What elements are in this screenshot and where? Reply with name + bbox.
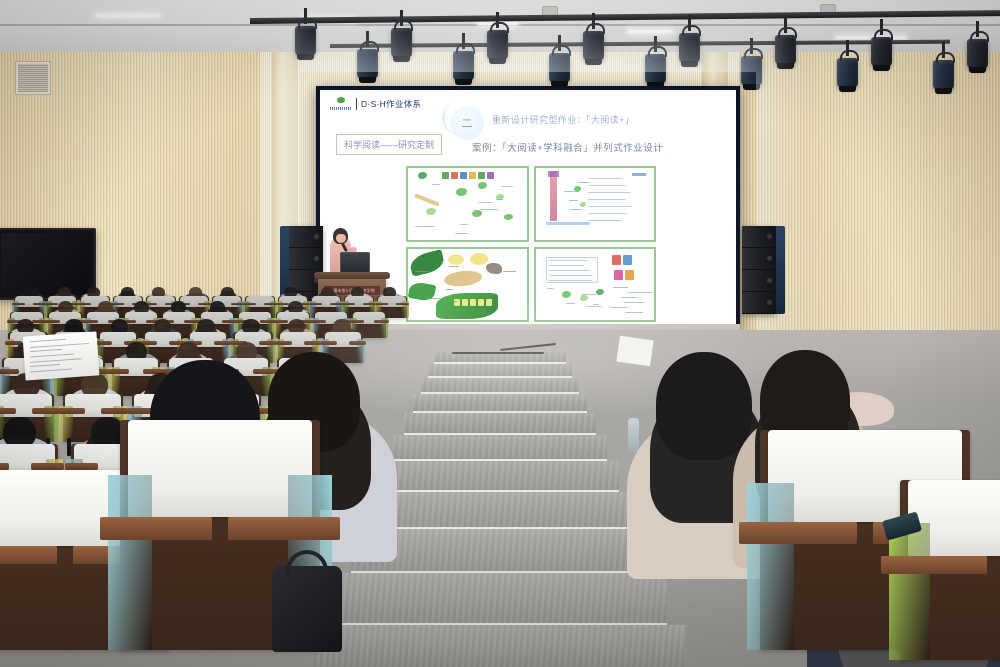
- seat-side-panel: [747, 483, 793, 650]
- student-poster: [534, 166, 657, 242]
- poster-doodle: [546, 222, 590, 225]
- poster-doodle: [632, 173, 646, 176]
- poster-handwriting: [581, 294, 596, 295]
- poster-text-line: [613, 287, 627, 288]
- poster-text-line: [610, 307, 629, 308]
- lectern-top: [314, 272, 390, 279]
- poster-text-line: [588, 178, 623, 179]
- poster-handwriting: [480, 209, 499, 210]
- laptop-screen: [340, 252, 370, 273]
- slide-logo: D·S·H作业体系: [330, 97, 421, 110]
- stair-step: [367, 492, 633, 529]
- poster-doodle: [580, 202, 586, 207]
- slide-section-badge: 二: [450, 106, 484, 140]
- auditorium-seat-foreground: [900, 480, 1000, 660]
- poster-handwriting: [446, 289, 453, 290]
- poster-handwriting: [503, 271, 516, 272]
- wall-monitor: [0, 228, 96, 300]
- poster-handwriting: [426, 298, 440, 299]
- stage-light: [487, 30, 508, 60]
- poster-doodle: [486, 263, 502, 274]
- poster-text-line: [624, 302, 644, 303]
- stage-light: [583, 31, 604, 61]
- poster-text-line: [625, 312, 643, 313]
- poster-handwriting: [432, 184, 440, 185]
- poster-doodle: [456, 188, 467, 196]
- stage-light: [645, 54, 666, 84]
- leaf-illustration: [408, 249, 446, 277]
- stage-light: [295, 26, 316, 56]
- stage-light: [549, 53, 570, 83]
- stage-light: [453, 51, 474, 81]
- monitor-screen: [1, 233, 91, 295]
- poster-doodle: [574, 186, 581, 192]
- seat-armrest: [12, 303, 25, 306]
- poster-text-line: [549, 270, 590, 271]
- poster-text-line: [549, 275, 594, 276]
- leaf-illustration: [436, 293, 498, 319]
- seat-armrest: [65, 463, 98, 470]
- poster-doodle: [548, 171, 559, 177]
- poster-grid: [406, 166, 656, 322]
- poster-doodle: [596, 289, 604, 295]
- seat-armrest: [45, 320, 60, 323]
- stage-light: [741, 56, 762, 86]
- seat-armrest: [349, 341, 367, 345]
- poster-handwriting: [578, 182, 590, 183]
- poster-handwriting: [593, 304, 599, 305]
- slide-tag-label: 科学阅读——研究定制: [336, 134, 442, 155]
- stair-step: [314, 625, 686, 667]
- seat-armrest: [58, 408, 84, 414]
- poster-handwriting: [566, 303, 574, 304]
- speaker-unit: [742, 292, 776, 314]
- poster-text-line: [588, 185, 627, 186]
- poster-doodle: [472, 210, 482, 217]
- seat-armrest: [0, 463, 9, 470]
- seat-armrest: [214, 341, 232, 345]
- seat-armrest: [273, 320, 288, 323]
- stage-light: [967, 39, 988, 69]
- poster-doodle: [580, 295, 588, 301]
- stair-step: [393, 435, 607, 461]
- slide-subtitle: 案例：「大阅读+学科融合」并列式作业设计: [472, 140, 663, 154]
- poster-text-line: [588, 199, 626, 200]
- poster-handwriting: [478, 202, 492, 203]
- logo-divider: [356, 98, 357, 110]
- seat-armrest: [374, 320, 389, 323]
- school-logo-icon: [330, 97, 352, 110]
- seat-armrest: [253, 369, 274, 374]
- speaker-unit: [742, 248, 776, 270]
- poster-doodle: [470, 253, 488, 265]
- floor-cable: [452, 352, 544, 354]
- poster-text-line: [588, 213, 628, 214]
- student-poster: [534, 247, 657, 323]
- poster-text-line: [549, 265, 584, 266]
- poster-doodle: [550, 171, 557, 221]
- water-bottle: [628, 418, 639, 452]
- seat-armrest: [739, 522, 857, 544]
- stage-light: [871, 37, 892, 67]
- poster-title-glyph: [478, 299, 484, 306]
- seat-headrest-cover: [128, 420, 312, 517]
- student-poster: [406, 247, 529, 323]
- speaker-unit: [289, 248, 323, 270]
- stage-light: [775, 35, 796, 65]
- stage-light: [679, 33, 700, 63]
- air-vent-grille: [16, 62, 50, 94]
- stair-step: [428, 364, 572, 378]
- poster-handwriting: [547, 288, 553, 289]
- stair-step: [404, 413, 596, 435]
- slide-logo-text: D·S·H作业体系: [361, 98, 421, 110]
- poster-handwriting: [564, 191, 575, 192]
- seat-armrest: [0, 546, 57, 564]
- poster-title-glyph: [451, 172, 458, 179]
- seat-armrest: [304, 341, 322, 345]
- audience-foreground-right-head: [656, 352, 752, 460]
- notebook: [616, 336, 653, 366]
- seat-armrest: [32, 408, 58, 414]
- poster-text-line: [588, 206, 632, 207]
- seat-armrest: [320, 341, 338, 345]
- seat-armrest: [108, 369, 129, 374]
- handbag: [272, 566, 342, 652]
- seat-armrest: [228, 517, 340, 540]
- seat-armrest: [396, 303, 409, 306]
- poster-handwriting: [460, 224, 467, 225]
- seat-armrest: [78, 303, 91, 306]
- poster-text-line: [588, 192, 632, 193]
- seat-armrest: [31, 463, 64, 470]
- seat-armrest: [881, 556, 987, 574]
- poster-title-glyph: [462, 299, 468, 306]
- speaker-unit: [289, 226, 323, 248]
- seat-armrest: [101, 408, 127, 414]
- poster-title-glyph: [442, 172, 449, 179]
- seat-armrest: [349, 320, 364, 323]
- seat-side-panel: [889, 523, 931, 660]
- poster-title-glyph: [478, 172, 485, 179]
- seat-armrest: [0, 369, 19, 374]
- poster-doodle: [504, 214, 513, 220]
- poster-handwriting: [496, 199, 503, 200]
- stair-step: [413, 394, 587, 413]
- seat-armrest: [309, 303, 322, 306]
- poster-doodle: [418, 172, 427, 179]
- stage-light: [837, 58, 858, 88]
- poster-title-glyph: [623, 255, 632, 265]
- ceiling-light-strip: [96, 14, 160, 17]
- seat-leg: [67, 438, 71, 456]
- ceiling-light-strip: [628, 30, 672, 33]
- poster-doodle: [562, 291, 571, 298]
- speaker-unit: [742, 226, 776, 248]
- poster-doodle: [448, 254, 464, 265]
- poster-text-line: [549, 280, 593, 281]
- seat-armrest: [100, 517, 212, 540]
- poster-handwriting: [501, 186, 512, 187]
- stair-step: [333, 573, 667, 625]
- poster-handwriting: [569, 200, 579, 201]
- poster-title-glyph: [612, 255, 621, 265]
- poster-text-line: [621, 297, 638, 298]
- poster-handwriting: [455, 233, 468, 234]
- poster-title-glyph: [460, 172, 467, 179]
- poster-title-glyph: [614, 270, 623, 280]
- poster-text-line: [549, 260, 587, 261]
- poster-text-line: [628, 292, 652, 293]
- seat-armrest: [311, 320, 326, 323]
- slide-title: 重新设计研究型作业：「大阅读+」: [492, 113, 634, 126]
- poster-doodle: [443, 269, 482, 288]
- seat-armrest: [276, 303, 289, 306]
- seat-armrest: [375, 303, 388, 306]
- speaker-stack-right: [742, 226, 776, 314]
- poster-title-glyph: [469, 172, 476, 179]
- seat-side-panel: [108, 475, 152, 650]
- poster-text-line: [588, 220, 622, 221]
- seat-armrest: [342, 303, 355, 306]
- stage-light: [933, 60, 954, 90]
- stage-light: [391, 28, 412, 58]
- poster-handwriting: [425, 226, 435, 227]
- student-poster: [406, 166, 529, 242]
- seat-armrest: [83, 320, 98, 323]
- presenter-face: [336, 234, 346, 243]
- poster-title-glyph: [486, 299, 492, 306]
- stair-step: [381, 461, 619, 492]
- poster-handwriting: [570, 209, 583, 210]
- seat-armrest: [275, 341, 293, 345]
- seat-armrest: [45, 303, 58, 306]
- stair-step: [421, 378, 579, 394]
- seat-armrest: [243, 303, 256, 306]
- poster-doodle: [426, 208, 436, 215]
- poster-doodle: [414, 193, 440, 206]
- stage-light: [357, 49, 378, 79]
- lecture-hall-photo: D·S·H作业体系 二 重新设计研究型作业：「大阅读+」 案例：「大阅读+学科融…: [0, 0, 1000, 667]
- poster-doodle: [478, 182, 487, 189]
- seat-armrest: [95, 341, 113, 345]
- seat-armrest: [259, 341, 277, 345]
- poster-title-glyph: [470, 299, 476, 306]
- poster-title-glyph: [487, 172, 494, 179]
- seat-armrest: [0, 408, 16, 414]
- poster-handwriting: [586, 306, 602, 307]
- poster-handwriting: [449, 266, 459, 267]
- poster-title-glyph: [625, 270, 634, 280]
- speaker-unit: [742, 270, 776, 292]
